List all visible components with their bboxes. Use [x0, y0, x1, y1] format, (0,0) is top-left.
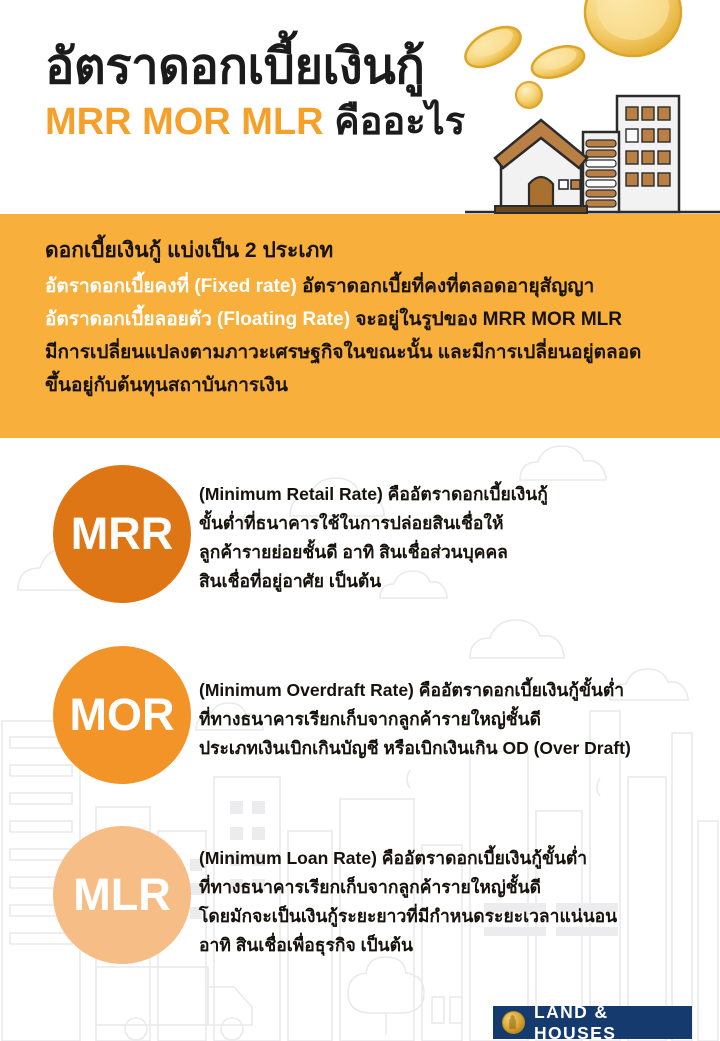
- house-icon: [495, 120, 587, 213]
- rate-badge-mlr: MLR: [53, 826, 191, 964]
- banner-heading: ดอกเบี้ยเงินกู้ แบ่งเป็น 2 ประเภท: [45, 236, 680, 266]
- rate-badge-mrr: MRR: [53, 465, 191, 603]
- banner-line-2: อัตราดอกเบี้ยลอยตัว (Floating Rate) จะอย…: [45, 303, 680, 336]
- gold-coin-logo-icon: [502, 1011, 525, 1034]
- brand-logo[interactable]: LAND & HOUSES: [493, 1006, 692, 1039]
- summary-banner: ดอกเบี้ยเงินกู้ แบ่งเป็น 2 ประเภท อัตราด…: [0, 214, 720, 438]
- rate-badge-mlr-label: MLR: [73, 869, 170, 921]
- rate-text-mor-line-2: ที่ทางธนาคารเรียกเก็บจากลูกค้ารายใหญ่ชั้…: [199, 705, 709, 734]
- brand-logo-text: LAND & HOUSES: [534, 1002, 692, 1041]
- gold-coins-icon: [459, 0, 681, 108]
- rate-text-mlr-line-4: อาทิ สินเชื่อเพื่อธุรกิจ เป็นต้น: [199, 931, 709, 960]
- rate-text-mlr: (Minimum Loan Rate) คืออัตราดอกเบี้ยเงิน…: [199, 844, 709, 960]
- rate-text-mrr: (Minimum Retail Rate) คืออัตราดอกเบี้ยเง…: [199, 480, 709, 596]
- rate-badge-mor: MOR: [53, 646, 191, 784]
- banner-line-3-text: มีการเปลี่ยนแปลงตามภาวะเศรษฐกิจในขณะนั้น…: [45, 342, 641, 363]
- rate-text-mor-line-3: ประเภทเงินเบิกเกินบัญชี หรือเบิกเงินเกิน…: [199, 734, 709, 763]
- title-block: อัตราดอกเบี้ยเงินกู้ MRR MOR MLR คืออะไร: [45, 38, 465, 146]
- header-illustration: [445, 0, 720, 214]
- banner-line-1-white: อัตราดอกเบี้ยคงที่ (Fixed rate): [45, 276, 302, 297]
- office-building-icon: [583, 96, 679, 212]
- banner-line-2-black: จะอยู่ในรูปของ MRR MOR MLR: [355, 309, 622, 330]
- banner-line-4: ขึ้นอยู่กับต้นทุนสถาบันการเงิน: [45, 369, 680, 402]
- subtitle-highlight: MRR MOR MLR: [45, 101, 334, 143]
- header: อัตราดอกเบี้ยเงินกู้ MRR MOR MLR คืออะไร: [0, 0, 720, 214]
- banner-line-2-white: อัตราดอกเบี้ยลอยตัว (Floating Rate): [45, 309, 355, 330]
- page-title: อัตราดอกเบี้ยเงินกู้: [45, 38, 465, 96]
- infographic-page: อัตราดอกเบี้ยเงินกู้ MRR MOR MLR คืออะไร: [0, 0, 720, 1041]
- rate-text-mor: (Minimum Overdraft Rate) คืออัตราดอกเบี้…: [199, 676, 709, 763]
- rate-text-mrr-line-1: (Minimum Retail Rate) คืออัตราดอกเบี้ยเง…: [199, 480, 709, 509]
- rate-text-mor-line-1: (Minimum Overdraft Rate) คืออัตราดอกเบี้…: [199, 676, 709, 705]
- rate-badge-mor-label: MOR: [70, 689, 175, 741]
- rate-badge-mrr-label: MRR: [71, 508, 173, 560]
- page-subtitle: MRR MOR MLR คืออะไร: [45, 98, 465, 146]
- banner-line-1: อัตราดอกเบี้ยคงที่ (Fixed rate) อัตราดอก…: [45, 270, 680, 303]
- rate-text-mlr-line-3: โดยมักจะเป็นเงินกู้ระยะยาวที่มีกำหนดระยะ…: [199, 902, 709, 931]
- rate-text-mrr-line-3: ลูกค้ารายย่อยชั้นดี อาทิ สินเชื่อส่วนบุค…: [199, 538, 709, 567]
- rate-text-mrr-line-4: สินเชื่อที่อยู่อาศัย เป็นต้น: [199, 567, 709, 596]
- banner-line-1-black: อัตราดอกเบี้ยที่คงที่ตลอดอายุสัญญา: [302, 276, 594, 297]
- rate-text-mrr-line-2: ขั้นต่ำที่ธนาคารใช้ในการปล่อยสินเชื่อให้: [199, 509, 709, 538]
- rate-text-mlr-line-1: (Minimum Loan Rate) คืออัตราดอกเบี้ยเงิน…: [199, 844, 709, 873]
- banner-line-4-text: ขึ้นอยู่กับต้นทุนสถาบันการเงิน: [45, 375, 288, 396]
- rate-text-mlr-line-2: ที่ทางธนาคารเรียกเก็บจากลูกค้ารายใหญ่ชั้…: [199, 873, 709, 902]
- banner-line-3: มีการเปลี่ยนแปลงตามภาวะเศรษฐกิจในขณะนั้น…: [45, 336, 680, 369]
